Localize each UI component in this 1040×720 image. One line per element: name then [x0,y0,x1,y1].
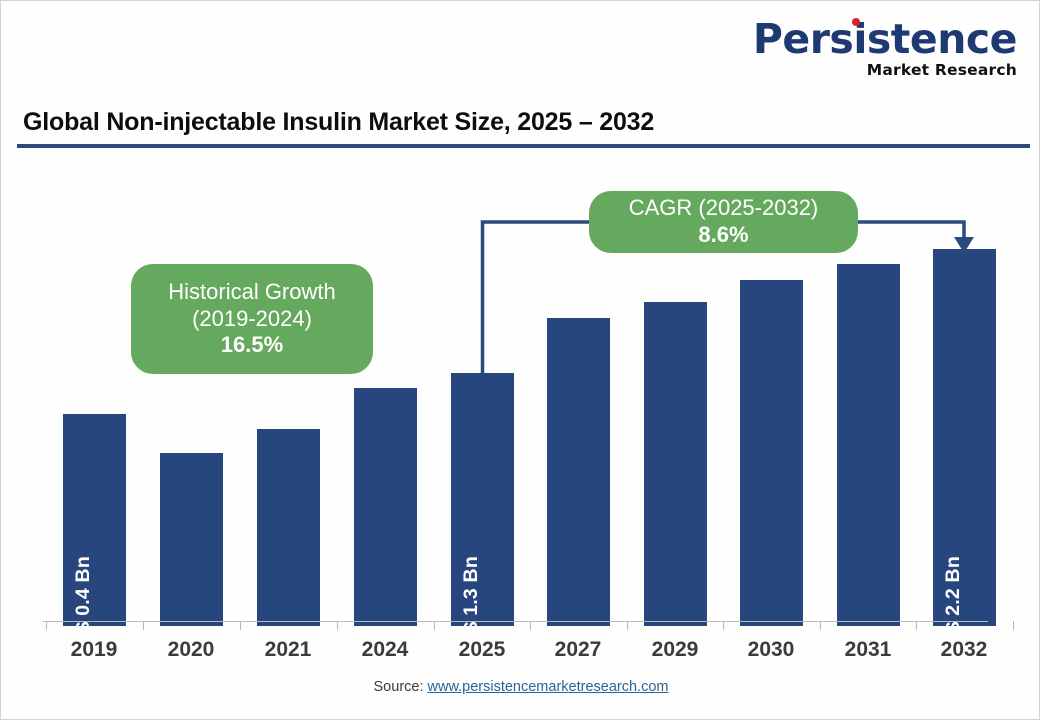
bar-2024 [354,388,417,626]
title-divider [17,144,1030,148]
x-axis-label-2032: 2032 [916,638,1012,662]
x-axis-label-2019: 2019 [46,638,142,662]
callout-cagr-value: 8.6% [698,222,748,249]
x-axis-tick-2021 [240,621,241,630]
logo-red-dot-icon [852,18,860,26]
x-axis-label-2021: 2021 [240,638,336,662]
callout-historical-value: 16.5% [221,332,283,359]
bar-2019: US$ 0.4 Bn [63,414,126,626]
source-link[interactable]: www.persistencemarketresearch.com [428,679,669,695]
plot-area: US$ 0.4 BnUS$ 1.3 BnUS$ 2.2 Bn [1,156,1040,626]
x-axis-label-2029: 2029 [627,638,723,662]
bar-2031 [837,264,900,626]
x-axis-tick-2031 [820,621,821,630]
callout-historical-line1: Historical Growth [168,279,335,306]
x-axis-tick-end [1013,621,1014,630]
company-logo: Persistence Market Research [753,19,1017,79]
source-prefix: Source: [374,679,428,695]
x-axis-tick-2027 [530,621,531,630]
page-title: Global Non-injectable Insulin Market Siz… [23,108,654,137]
callout-cagr-line1: CAGR (2025-2032) [629,195,819,222]
x-axis-tick-2025 [434,621,435,630]
callout-historical-growth: Historical Growth (2019-2024) 16.5% [131,264,373,374]
x-axis-line [43,621,988,622]
bar-2027 [547,318,610,626]
x-axis-tick-2019 [46,621,47,630]
x-axis-tick-2029 [627,621,628,630]
bar-2025: US$ 1.3 Bn [451,373,514,626]
x-axis-label-2020: 2020 [143,638,239,662]
bar-2020 [160,453,223,626]
bar-2032: US$ 2.2 Bn [933,249,996,626]
x-axis-label-2027: 2027 [530,638,626,662]
x-axis-label-2031: 2031 [820,638,916,662]
callout-cagr: CAGR (2025-2032) 8.6% [589,191,858,253]
logo-tagline: Market Research [753,63,1017,79]
x-axis-label-2024: 2024 [337,638,433,662]
bar-2021 [257,429,320,626]
x-axis-label-2030: 2030 [723,638,819,662]
bar-2029 [644,302,707,626]
x-axis-tick-2032 [916,621,917,630]
bar-2030 [740,280,803,626]
x-axis-tick-2020 [143,621,144,630]
logo-brand-label: Persistence [753,15,1017,63]
chart-canvas: Persistence Market Research Global Non-i… [0,0,1040,720]
x-axis-tick-2030 [723,621,724,630]
logo-brand-text: Persistence [753,19,1017,60]
source-note: Source: www.persistencemarketresearch.co… [1,679,1040,695]
x-axis-label-2025: 2025 [434,638,530,662]
callout-historical-line2: (2019-2024) [192,306,312,333]
x-axis-tick-2024 [337,621,338,630]
